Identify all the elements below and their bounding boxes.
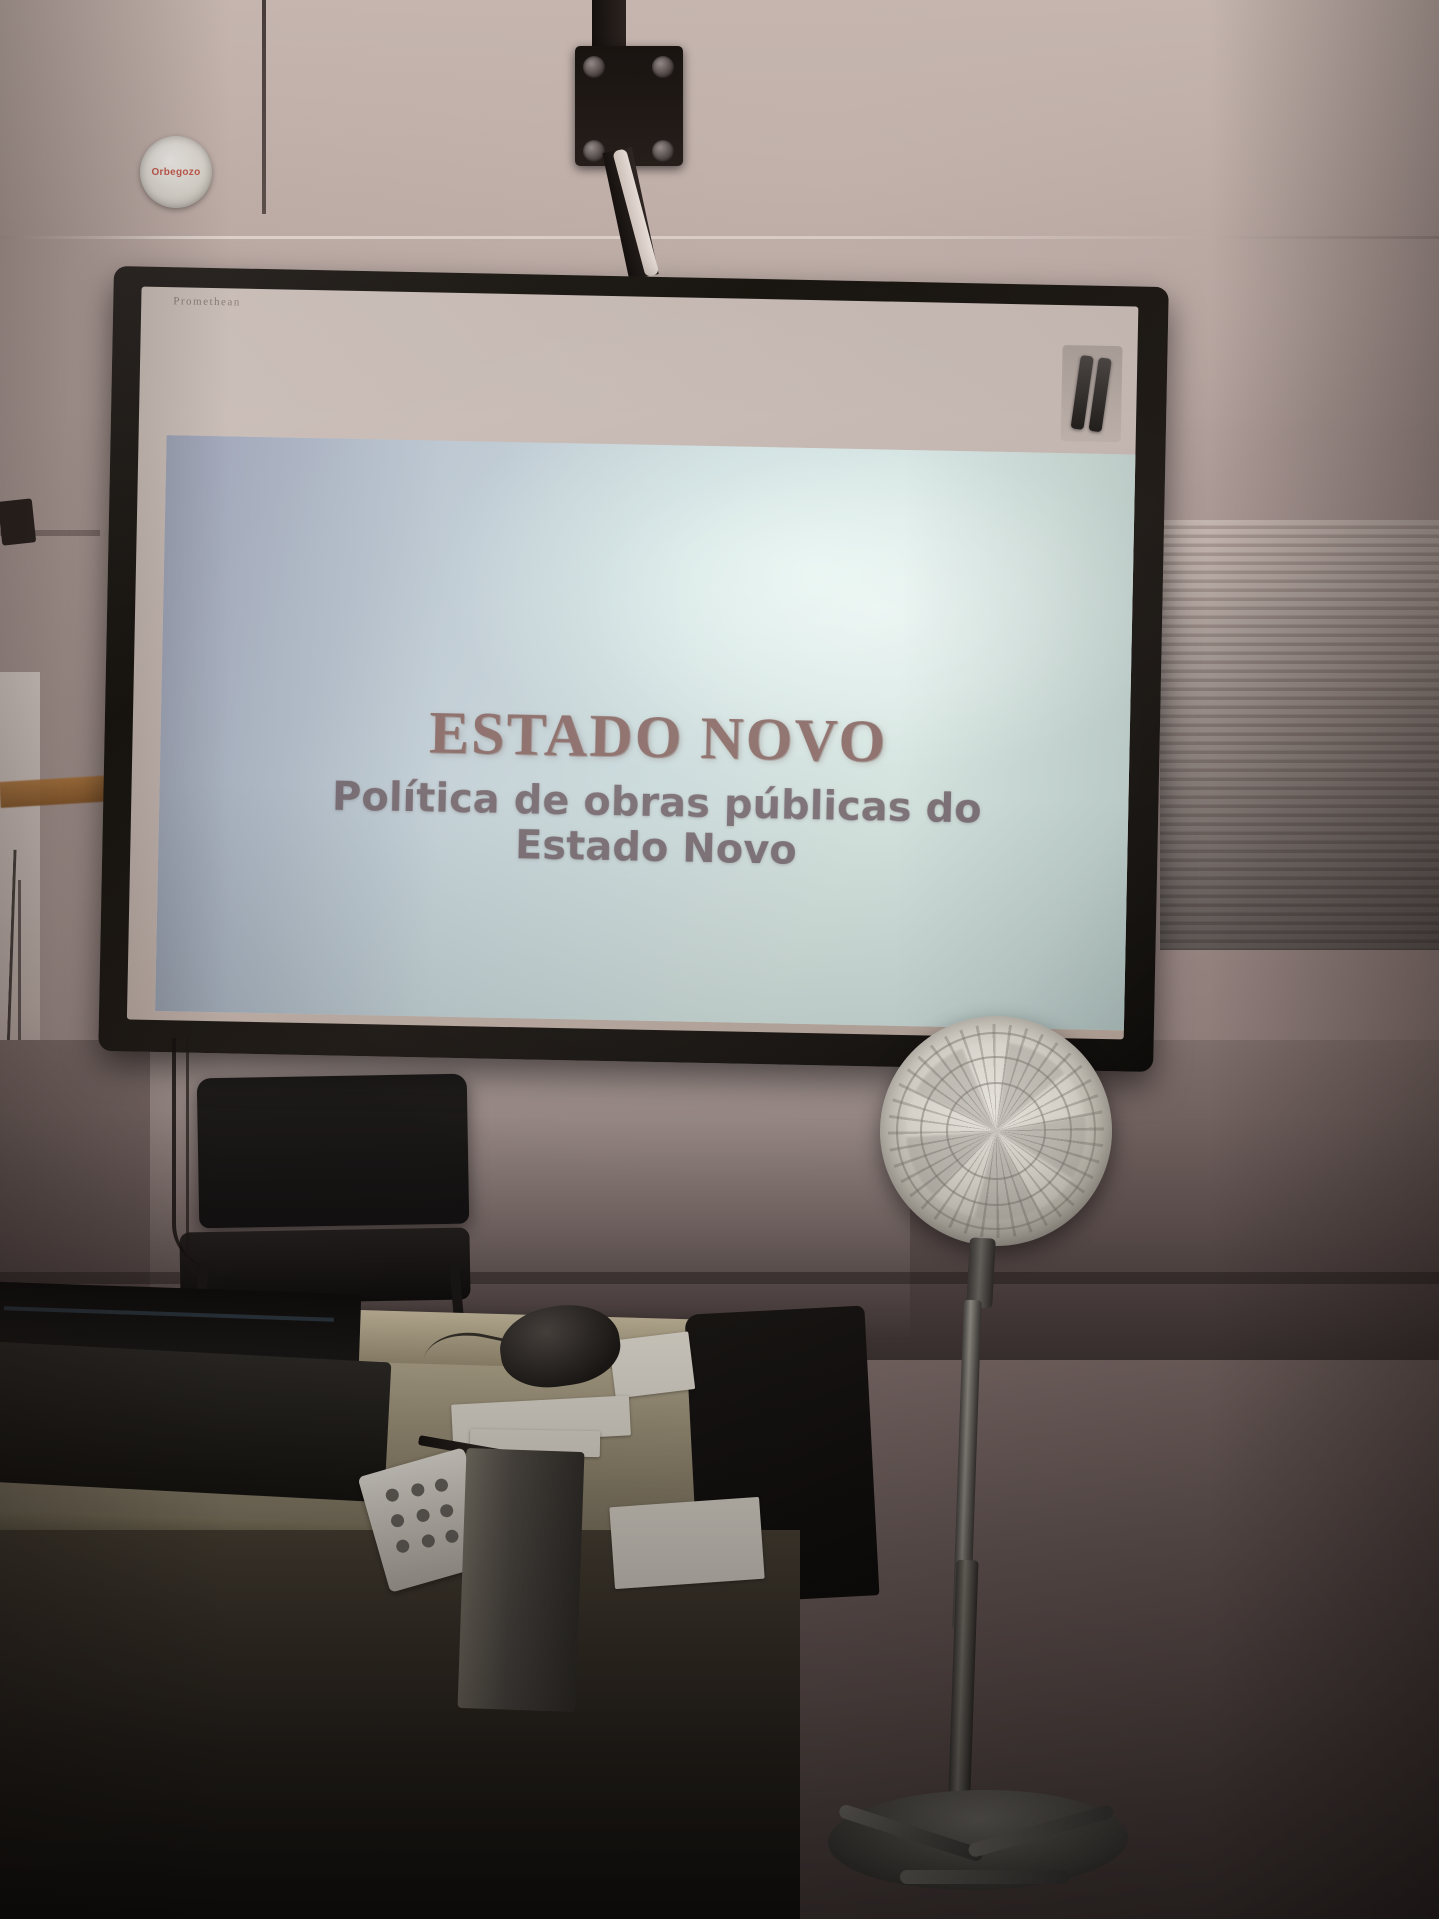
remote-button[interactable] xyxy=(389,1513,405,1529)
projected-slide: ESTADO NOVO Política de obras públicas d… xyxy=(155,435,1138,1031)
whiteboard-brand-label: Promethean xyxy=(173,295,241,308)
remote-button[interactable] xyxy=(410,1482,426,1498)
remote-button[interactable] xyxy=(395,1538,411,1554)
remote-button[interactable] xyxy=(420,1533,436,1549)
chair-backrest xyxy=(197,1074,470,1229)
mount-bolt-icon xyxy=(652,140,674,162)
fan-neck[interactable] xyxy=(966,1237,996,1308)
wall-conduit-line xyxy=(262,0,266,214)
classroom-photo-scene: Promethean ESTADO NOVO Política de obras… xyxy=(0,0,1439,1919)
remote-button[interactable] xyxy=(384,1487,400,1503)
remote-button[interactable] xyxy=(439,1503,455,1519)
remote-button[interactable] xyxy=(415,1507,431,1523)
fan-hub-cap: Orbegozo xyxy=(140,136,212,208)
wall-bracket xyxy=(0,498,36,545)
fan-base-leg xyxy=(900,1870,1070,1884)
whiteboard-surface[interactable]: Promethean ESTADO NOVO Política de obras… xyxy=(127,287,1139,1040)
mount-bolt-icon xyxy=(652,56,674,78)
remote-button[interactable] xyxy=(433,1477,449,1493)
mount-bolt-icon xyxy=(583,56,605,78)
remote-button[interactable] xyxy=(444,1528,460,1544)
fan-brand-label: Orbegozo xyxy=(151,167,200,178)
whiteboard-data-cable xyxy=(186,1038,223,1288)
window-blinds-shade xyxy=(1160,520,1439,950)
ceiling-panel-seam xyxy=(0,236,1439,239)
interactive-whiteboard[interactable]: Promethean ESTADO NOVO Política de obras… xyxy=(98,266,1169,1072)
laptop-keyboard-base[interactable] xyxy=(0,1342,391,1503)
slide-vignette xyxy=(155,435,1138,1031)
mount-bolt-icon xyxy=(583,140,605,162)
paper-sheet xyxy=(609,1331,695,1398)
paper-sheet xyxy=(609,1497,764,1589)
pc-tower[interactable] xyxy=(457,1448,584,1712)
pedestal-fan-head[interactable] xyxy=(876,1012,1116,1250)
